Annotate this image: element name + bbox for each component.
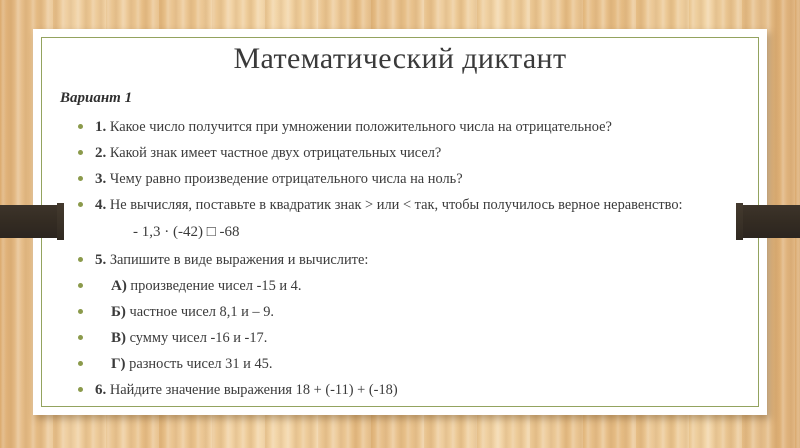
ribbon-left-decoration — [0, 205, 64, 238]
list-item: 6. Найдите значение выражения 18 + (-11)… — [77, 377, 715, 403]
bullet-icon — [78, 176, 83, 181]
list-item: 3. Чему равно произведение отрицательног… — [77, 166, 715, 192]
list-item: Б) частное чисел 8,1 и – 9. — [77, 299, 715, 325]
list-item: 2. Какой знак имеет частное двух отрицат… — [77, 140, 715, 166]
question-number: 3. — [95, 171, 106, 187]
bullet-icon — [78, 202, 83, 207]
bullet-icon — [78, 150, 83, 155]
ribbon-right-decoration — [736, 205, 800, 238]
question-list: 1. Какое число получится при умножении п… — [33, 114, 767, 403]
bullet-icon — [78, 257, 83, 262]
question-text: Какое число получится при умножении поло… — [106, 119, 612, 135]
subitem-text: разность чисел 31 и 45. — [126, 356, 273, 372]
bullet-icon — [78, 335, 83, 340]
bullet-icon — [78, 124, 83, 129]
question-text: Чему равно произведение отрицательного ч… — [106, 171, 462, 187]
ribbon-right-cap — [736, 203, 743, 240]
question-text: Какой знак имеет частное двух отрицатель… — [106, 145, 441, 161]
subitem-letter: Б) — [111, 304, 126, 320]
page-title: Математический диктант — [33, 29, 767, 76]
list-item: 5. Запишите в виде выражения и вычислите… — [77, 247, 715, 273]
question-text: Найдите значение выражения 18 + (-11) + … — [106, 382, 397, 398]
variant-label: Вариант 1 — [60, 90, 767, 107]
question-number: 5. — [95, 252, 106, 268]
question-number: 4. — [95, 197, 106, 213]
question-number: 1. — [95, 119, 106, 135]
bullet-icon — [78, 361, 83, 366]
slide-canvas: Математический диктант Вариант 1 1. Како… — [0, 0, 800, 448]
question-number: 2. — [95, 145, 106, 161]
subitem-letter: В) — [111, 330, 126, 346]
inequality-formula: - 1,3 · (-42) □ -68 — [33, 219, 767, 245]
list-item: 4. Не вычисляя, поставьте в квадратик зн… — [77, 192, 715, 218]
bullet-icon — [78, 387, 83, 392]
ribbon-left-cap — [57, 203, 64, 240]
question-text: Не вычисляя, поставьте в квадратик знак … — [106, 197, 682, 213]
bullet-icon — [78, 309, 83, 314]
content-card: Математический диктант Вариант 1 1. Како… — [33, 29, 767, 415]
question-number: 6. — [95, 382, 106, 398]
list-item: В) сумму чисел -16 и -17. — [77, 325, 715, 351]
subitem-text: произведение чисел -15 и 4. — [127, 278, 302, 294]
list-item: Г) разность чисел 31 и 45. — [77, 351, 715, 377]
subitem-letter: А) — [111, 278, 127, 294]
slide-content: Математический диктант Вариант 1 1. Како… — [33, 29, 767, 415]
bullet-icon — [78, 283, 83, 288]
list-item: 1. Какое число получится при умножении п… — [77, 114, 715, 140]
question-text: Запишите в виде выражения и вычислите: — [106, 252, 368, 268]
list-item: А) произведение чисел -15 и 4. — [77, 273, 715, 299]
subitem-letter: Г) — [111, 356, 126, 372]
subitem-text: частное чисел 8,1 и – 9. — [126, 304, 274, 320]
subitem-text: сумму чисел -16 и -17. — [126, 330, 267, 346]
